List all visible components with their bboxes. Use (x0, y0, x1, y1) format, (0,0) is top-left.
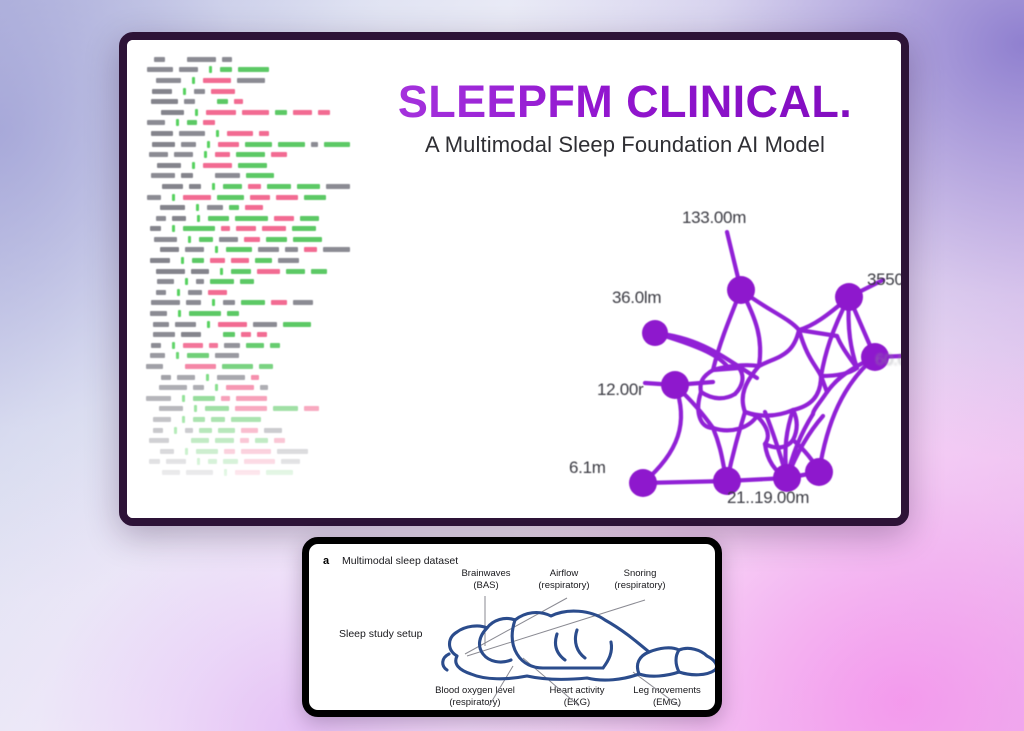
code-line (143, 139, 353, 150)
code-line (143, 65, 353, 76)
code-line (143, 149, 353, 160)
code-gutter-mark (204, 151, 207, 158)
code-gutter-mark (212, 299, 215, 306)
code-line (143, 181, 353, 192)
code-gutter-mark (196, 204, 199, 211)
code-line (143, 382, 353, 393)
code-gutter-mark (215, 246, 218, 253)
panel-heading: Multimodal sleep dataset (342, 555, 458, 567)
code-gutter-mark (172, 225, 175, 232)
code-gutter-mark (185, 278, 188, 285)
code-gutter-mark (215, 384, 218, 391)
panel-tag: a (323, 555, 329, 567)
graph-label-4: 12.00r (597, 380, 643, 400)
code-gutter-mark (212, 183, 215, 190)
code-line (143, 107, 353, 118)
code-line (143, 213, 353, 224)
graph-label-6: 21..19.00m (727, 488, 809, 508)
graph-node-n-top (727, 276, 755, 304)
code-line (143, 340, 353, 351)
graph-node-n-bottomleft (629, 469, 657, 497)
code-line (143, 245, 353, 256)
code-line (143, 308, 353, 319)
graph-node-n-upperleft (642, 320, 668, 346)
graph-node-n-topright (835, 283, 863, 311)
code-line (143, 234, 353, 245)
code-gutter-mark (194, 405, 197, 412)
code-line (143, 224, 353, 235)
code-gutter-mark (206, 374, 209, 381)
code-line (143, 361, 353, 372)
code-line (143, 435, 353, 446)
graph-label-1: 3550.0m (867, 270, 901, 290)
slide-canvas: SLEEPFM CLINICAL. A Multimodal Sleep Fou… (127, 40, 901, 518)
code-gutter-mark (224, 469, 227, 476)
title-block: SLEEPFM CLINICAL. A Multimodal Sleep Fou… (355, 78, 895, 158)
code-gutter-mark (183, 88, 186, 95)
code-line (143, 404, 353, 415)
code-gutter-mark (178, 310, 181, 317)
code-line (143, 96, 353, 107)
code-line (143, 446, 353, 457)
code-line (143, 118, 353, 129)
code-line (143, 467, 353, 478)
code-line (143, 192, 353, 203)
code-line (143, 128, 353, 139)
code-line (143, 160, 353, 171)
code-gutter-mark (174, 427, 177, 434)
graph-label-2: 36.0lm (612, 288, 661, 308)
graph-label-3: 60.0m (875, 350, 901, 370)
network-graph-svg (427, 170, 901, 518)
code-gutter-mark (188, 236, 191, 243)
network-diagram: 133.00m3550.0m36.0lm60.0m12.00r6.1m21..1… (427, 170, 901, 518)
code-line (143, 457, 353, 468)
code-gutter-mark (181, 257, 184, 264)
code-line (143, 75, 353, 86)
code-gutter-mark (220, 268, 223, 275)
code-gutter-mark (209, 66, 212, 73)
graph-label-5: 6.1m (569, 458, 606, 478)
presentation-slide: SLEEPFM CLINICAL. A Multimodal Sleep Fou… (119, 32, 909, 526)
sleeping-person-figure (427, 568, 722, 717)
code-gutter-mark (216, 130, 219, 137)
code-line (143, 329, 353, 340)
sleep-study-setup-label: Sleep study setup (339, 628, 422, 640)
code-gutter-mark (176, 352, 179, 359)
code-line (143, 266, 353, 277)
code-gutter-mark (182, 395, 185, 402)
graph-label-0: 133.00m (682, 208, 746, 228)
code-line (143, 202, 353, 213)
code-line (143, 372, 353, 383)
code-gutter-mark (192, 162, 195, 169)
page-subtitle: A Multimodal Sleep Foundation AI Model (355, 132, 895, 158)
code-line (143, 86, 353, 97)
code-gutter-mark (172, 194, 175, 201)
code-line (143, 54, 353, 65)
code-line (143, 276, 353, 287)
code-gutter-mark (176, 119, 179, 126)
graph-node-n-left (661, 371, 689, 399)
code-line (143, 171, 353, 182)
code-gutter-mark (195, 109, 198, 116)
code-line (143, 298, 353, 309)
code-line (143, 287, 353, 298)
pseudo-code-column (143, 54, 353, 504)
code-gutter-mark (182, 416, 185, 423)
code-line (143, 351, 353, 362)
code-gutter-mark (207, 141, 210, 148)
code-gutter-mark (185, 448, 188, 455)
code-gutter-mark (172, 342, 175, 349)
code-gutter-mark (197, 458, 200, 465)
code-gutter-mark (197, 215, 200, 222)
code-gutter-mark (177, 289, 180, 296)
graph-node-n-lowerright (805, 458, 833, 486)
person-outline (443, 611, 717, 680)
code-line (143, 319, 353, 330)
code-line (143, 393, 353, 404)
code-gutter-mark (192, 77, 195, 84)
code-line (143, 414, 353, 425)
code-gutter-mark (207, 321, 210, 328)
page-title: SLEEPFM CLINICAL. (355, 78, 895, 125)
code-line (143, 425, 353, 436)
multimodal-dataset-panel: a Multimodal sleep dataset Sleep study s… (302, 537, 722, 717)
code-line (143, 255, 353, 266)
